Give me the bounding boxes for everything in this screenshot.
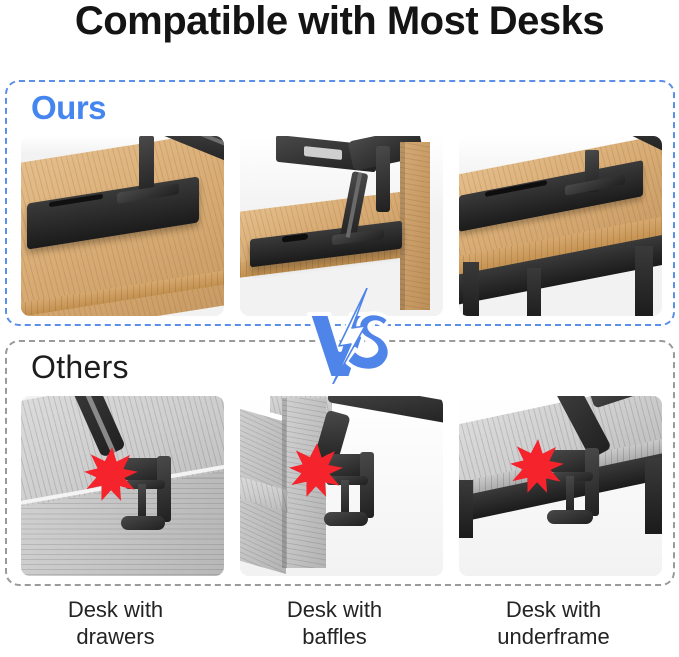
ours-label: Ours [31,91,106,124]
others-photo-row [21,396,663,576]
vs-badge [305,288,397,384]
caption-underframe: Desk with underframe [452,596,655,650]
others-photo-drawers [21,396,224,576]
caption-line-2: baffles [233,623,436,650]
caption-line-2: drawers [14,623,217,650]
others-label: Others [31,351,129,383]
collision-burst-icon [509,438,565,494]
caption-row: Desk with drawers Desk with baffles Desk… [14,596,656,650]
caption-line-2: underframe [452,623,655,650]
others-photo-underframe [459,396,662,576]
ours-photo-drawers [21,136,224,316]
ours-photo-underframe [459,136,662,316]
others-photo-baffles [240,396,443,576]
caption-drawers: Desk with drawers [14,596,217,650]
collision-burst-icon [288,442,344,498]
collision-burst-icon [83,446,139,502]
caption-line-1: Desk with [14,596,217,623]
caption-line-1: Desk with [452,596,655,623]
page-title: Compatible with Most Desks [0,0,679,44]
caption-baffles: Desk with baffles [233,596,436,650]
caption-line-1: Desk with [233,596,436,623]
